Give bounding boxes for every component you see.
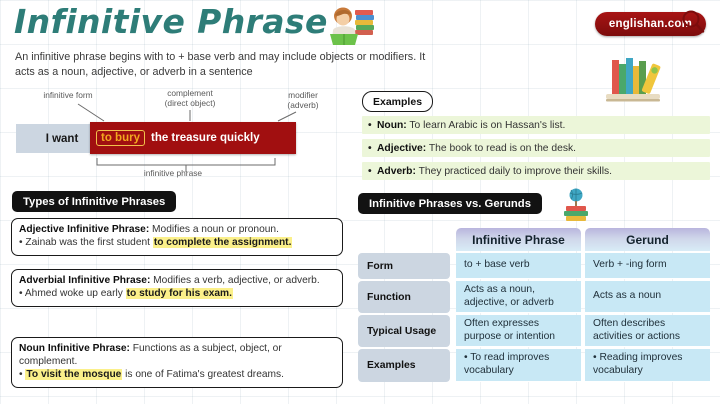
example-highlight: To visit the mosque: [25, 369, 122, 380]
row-label-examples: Examples: [358, 349, 450, 381]
comparison-table: Infinitive Phrase Gerund Form to + base …: [358, 228, 710, 384]
example-highlight: to study for his exam.: [126, 288, 233, 299]
page-title: Infinitive Phrase: [14, 2, 328, 41]
table-row: Form to + base verb Verb + -ing form: [358, 253, 710, 279]
type-example: • Ahmed woke up early to study for his e…: [19, 287, 335, 301]
bullet-icon: •: [19, 369, 23, 380]
example-text: The book to read is on the desk.: [426, 143, 576, 154]
infinitive-phrase-box: to bury the treasure quickly: [90, 122, 296, 154]
type-desc: Modifies a verb, adjective, or adverb.: [150, 275, 319, 286]
comparison-heading: Infinitive Phrases vs. Gerunds: [358, 193, 542, 214]
type-example: • To visit the mosque is one of Fatima's…: [19, 368, 335, 382]
column-header-gerund: Gerund: [585, 228, 710, 251]
bullet-icon: •: [19, 288, 23, 299]
sentence-diagram: infinitive form complement (direct objec…: [0, 90, 352, 190]
infinitive-token: to bury: [96, 130, 145, 146]
table-row: Typical Usage Often expresses purpose or…: [358, 315, 710, 347]
cell-form-gerund: Verb + -ing form: [585, 253, 710, 279]
globe-books-icon: [556, 186, 596, 226]
search-icon: [680, 8, 706, 34]
complement-modifier-text: the treasure quickly: [151, 132, 260, 144]
row-label-typical-usage: Typical Usage: [358, 315, 450, 347]
table-corner-cell: [358, 228, 450, 251]
example-label: Adverb:: [377, 166, 416, 177]
type-card-noun: Noun Infinitive Phrase: Functions as a s…: [11, 337, 343, 388]
bullet-icon: •: [19, 237, 23, 248]
cell-examples-infinitive: • To read improves vocabulary: [456, 349, 581, 381]
cell-usage-infinitive: Often expresses purpose or intention: [456, 315, 581, 347]
cell-function-infinitive: Acts as a noun, adjective, or adverb: [456, 281, 581, 313]
subject-text: I want: [46, 133, 79, 145]
example-highlight: to complete the assignment.: [153, 237, 293, 248]
type-desc: Modifies a noun or pronoun.: [149, 224, 279, 235]
table-row: Function Acts as a noun, adjective, or a…: [358, 281, 710, 313]
cell-examples-gerund: • Reading improves vocabulary: [585, 349, 710, 381]
example-label: Adjective:: [377, 143, 426, 154]
list-item: •Adjective: The book to read is on the d…: [362, 139, 710, 157]
type-term: Noun Infinitive Phrase:: [19, 343, 130, 354]
list-item: •Noun: To learn Arabic is on Hassan's li…: [362, 116, 710, 134]
example-text: To learn Arabic is on Hassan's list.: [407, 120, 566, 131]
infographic-page: Infinitive Phrase englishan.com An infin…: [0, 0, 720, 404]
boy-reading-icon: [325, 4, 381, 46]
type-definition: Adjective Infinitive Phrase: Modifies a …: [19, 223, 335, 236]
bullet-icon: •: [368, 142, 377, 155]
table-row: Examples • To read improves vocabulary •…: [358, 349, 710, 381]
example-text: They practiced daily to improve their sk…: [416, 166, 612, 177]
bullet-icon: •: [368, 119, 377, 132]
example-label: Noun:: [377, 120, 407, 131]
bookshelf-icon: [598, 52, 668, 104]
bullet-icon: •: [368, 165, 377, 178]
table-header-row: Infinitive Phrase Gerund: [358, 228, 710, 251]
intro-paragraph: An infinitive phrase begins with to + ba…: [15, 50, 445, 80]
types-heading: Types of Infinitive Phrases: [12, 191, 176, 212]
type-card-adverbial: Adverbial Infinitive Phrase: Modifies a …: [11, 269, 343, 307]
label-infinitive-phrase: infinitive phrase: [108, 168, 238, 178]
type-example: • Zainab was the first student to comple…: [19, 236, 335, 250]
type-definition: Adverbial Infinitive Phrase: Modifies a …: [19, 274, 335, 287]
examples-list: •Noun: To learn Arabic is on Hassan's li…: [362, 116, 710, 185]
type-term: Adverbial Infinitive Phrase:: [19, 275, 150, 286]
example-suffix: is one of Fatima's greatest dreams.: [122, 369, 284, 380]
cell-usage-gerund: Often describes activities or actions: [585, 315, 710, 347]
example-prefix: Zainab was the first student: [25, 237, 152, 248]
row-label-form: Form: [358, 253, 450, 279]
type-term: Adjective Infinitive Phrase:: [19, 224, 149, 235]
type-card-adjective: Adjective Infinitive Phrase: Modifies a …: [11, 218, 343, 256]
type-definition: Noun Infinitive Phrase: Functions as a s…: [19, 342, 335, 368]
row-label-function: Function: [358, 281, 450, 313]
example-prefix: Ahmed woke up early: [25, 288, 126, 299]
examples-heading: Examples: [362, 91, 433, 112]
column-header-infinitive: Infinitive Phrase: [456, 228, 581, 251]
cell-form-infinitive: to + base verb: [456, 253, 581, 279]
cell-function-gerund: Acts as a noun: [585, 281, 710, 313]
list-item: •Adverb: They practiced daily to improve…: [362, 162, 710, 180]
